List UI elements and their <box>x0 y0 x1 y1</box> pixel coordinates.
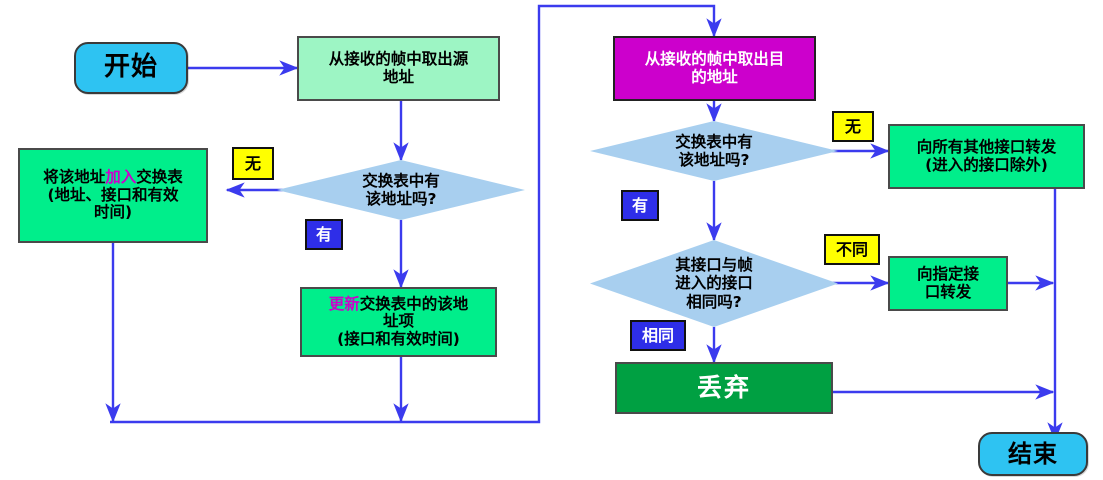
node-add-address-highlight: 加入 <box>105 168 136 186</box>
node-forward-to-port[interactable]: 向指定接 口转发 <box>888 256 1008 311</box>
node-update-address-line: 更新交换表中的该地 址项 (接口和有效时间) <box>329 296 469 348</box>
node-extract-destination-address-label: 从接收的帧中取出目 的地址 <box>645 51 785 86</box>
node-flood-all-ports[interactable]: 向所有其他接口转发 (进入的接口除外) <box>888 124 1085 189</box>
node-update-address-entry[interactable]: 更新交换表中的该地 址项 (接口和有效时间) <box>300 287 497 357</box>
edge-label-port-same-text: 相同 <box>642 328 674 344</box>
node-end-label: 结束 <box>1008 441 1058 468</box>
node-extract-source-address-label: 从接收的帧中取出源 地址 <box>329 51 469 86</box>
flowchart-canvas: 开始 从接收的帧中取出源 地址 交换表中有 该地址吗? 将该地址加入交换表 (地… <box>0 0 1103 480</box>
node-add-address-line1: 将该地址加入交换表 (地址、接口和有效 时间) <box>43 169 183 221</box>
edge-label-port-same: 相同 <box>630 320 686 351</box>
edge-label-source-yes: 有 <box>305 219 343 250</box>
node-decision-source-in-table[interactable]: 交换表中有 该地址吗? <box>277 160 525 220</box>
edge-label-dest-no: 无 <box>832 111 874 142</box>
node-flood-all-ports-label: 向所有其他接口转发 (进入的接口除外) <box>917 139 1057 174</box>
node-add-address-to-table[interactable]: 将该地址加入交换表 (地址、接口和有效 时间) <box>18 148 208 243</box>
node-decision-same-port[interactable]: 其接口与帧 进入的接口 相同吗? <box>590 240 838 327</box>
node-discard-label: 丢弃 <box>697 374 751 402</box>
edge-label-port-different-text: 不同 <box>836 242 868 258</box>
edge-label-source-no-text: 无 <box>245 156 261 172</box>
node-decision-dest-in-table-label: 交换表中有 该地址吗? <box>590 121 838 181</box>
edge-label-dest-yes: 有 <box>621 190 659 221</box>
node-end[interactable]: 结束 <box>978 432 1088 476</box>
node-update-address-highlight: 更新 <box>329 295 360 313</box>
node-decision-source-in-table-label: 交换表中有 该地址吗? <box>277 160 525 220</box>
edge-label-dest-yes-text: 有 <box>632 198 648 214</box>
node-extract-source-address[interactable]: 从接收的帧中取出源 地址 <box>297 36 500 101</box>
edge-label-source-no: 无 <box>232 147 274 180</box>
node-discard[interactable]: 丢弃 <box>615 362 833 414</box>
node-decision-same-port-label: 其接口与帧 进入的接口 相同吗? <box>590 240 838 327</box>
node-start-label: 开始 <box>104 53 158 82</box>
node-start[interactable]: 开始 <box>74 42 188 94</box>
node-add-address-prefix: 将该地址 <box>43 168 105 186</box>
node-extract-destination-address[interactable]: 从接收的帧中取出目 的地址 <box>613 36 816 101</box>
node-forward-to-port-label: 向指定接 口转发 <box>917 266 979 301</box>
node-decision-dest-in-table[interactable]: 交换表中有 该地址吗? <box>590 121 838 181</box>
edge-label-port-different: 不同 <box>824 234 880 265</box>
edge-label-dest-no-text: 无 <box>845 119 861 135</box>
edge-label-source-yes-text: 有 <box>316 227 332 243</box>
